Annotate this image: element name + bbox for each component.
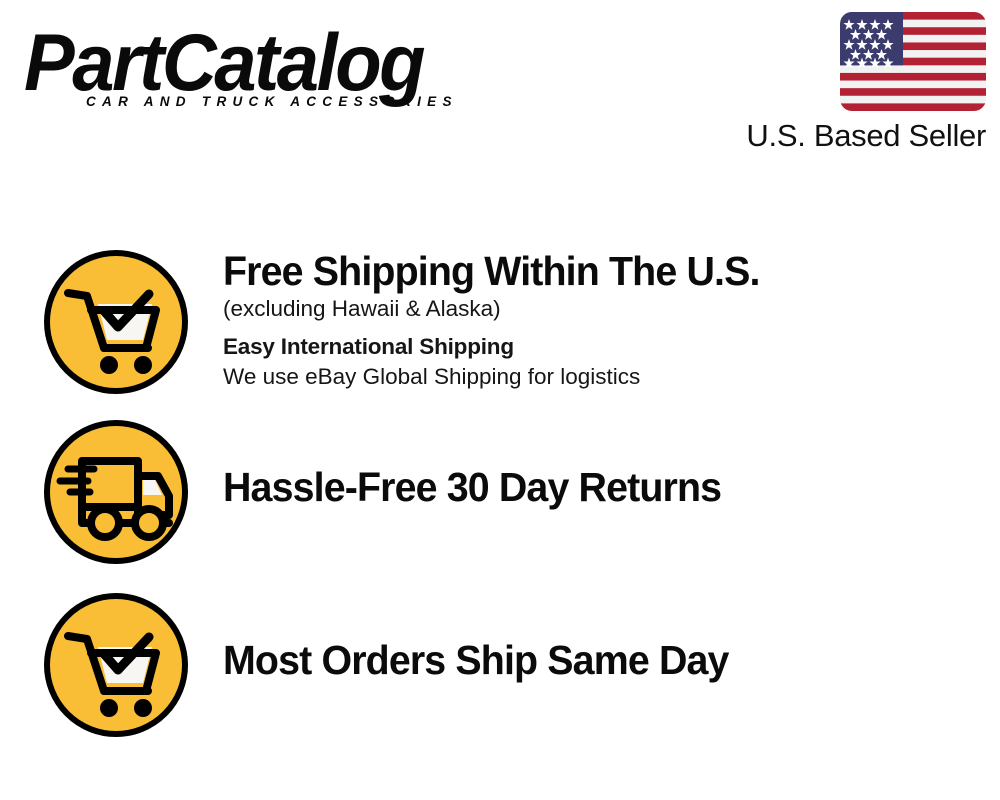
shopping-cart-check-icon (42, 248, 190, 396)
shopping-cart-check-icon (42, 591, 190, 739)
feature-subline-international-title: Easy International Shipping (223, 332, 983, 362)
brand-logo-tagline: CAR AND TRUCK ACCESSORIES (86, 94, 458, 109)
feature-headline: Most Orders Ship Same Day (223, 637, 953, 683)
feature-headline: Free Shipping Within The U.S. (223, 248, 953, 294)
feature-subline-international-detail: We use eBay Global Shipping for logistic… (223, 362, 983, 392)
us-based-seller-label: U.S. Based Seller (746, 118, 986, 154)
us-flag-icon (840, 12, 986, 111)
brand-logo-wordmark: PartCatalog (24, 22, 494, 105)
promo-banner: PartCatalog CAR AND TRUCK ACCESSORIES (0, 0, 1000, 800)
brand-logo: PartCatalog CAR AND TRUCK ACCESSORIES (24, 22, 494, 117)
feature-text-returns: Hassle-Free 30 Day Returns (223, 464, 983, 510)
feature-headline: Hassle-Free 30 Day Returns (223, 464, 953, 510)
feature-text-free-shipping: Free Shipping Within The U.S. (excluding… (223, 248, 983, 392)
feature-subline-exclusions: (excluding Hawaii & Alaska) (223, 294, 983, 324)
feature-text-same-day: Most Orders Ship Same Day (223, 637, 983, 683)
delivery-truck-icon (42, 418, 190, 566)
spacer (223, 324, 983, 332)
